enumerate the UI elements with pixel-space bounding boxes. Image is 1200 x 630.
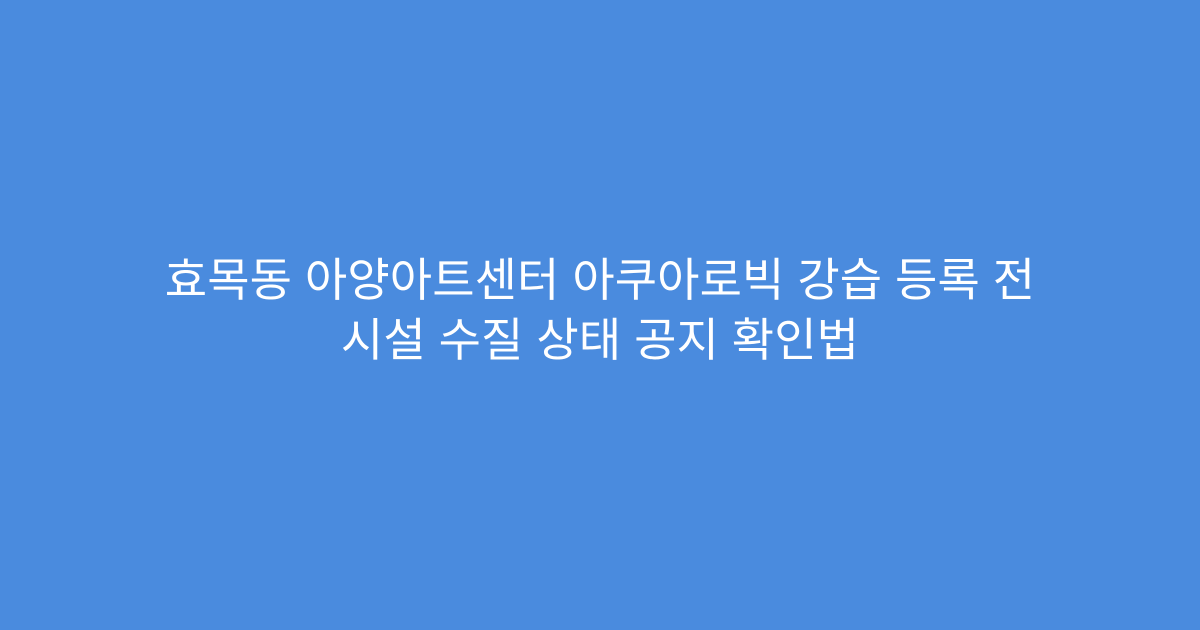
page-title: 효목동 아양아트센터 아쿠아로빅 강습 등록 전 시설 수질 상태 공지 확인법 (100, 250, 1100, 370)
share-card: 효목동 아양아트센터 아쿠아로빅 강습 등록 전 시설 수질 상태 공지 확인법 (0, 0, 1200, 630)
title-block: 효목동 아양아트센터 아쿠아로빅 강습 등록 전 시설 수질 상태 공지 확인법 (100, 250, 1100, 370)
